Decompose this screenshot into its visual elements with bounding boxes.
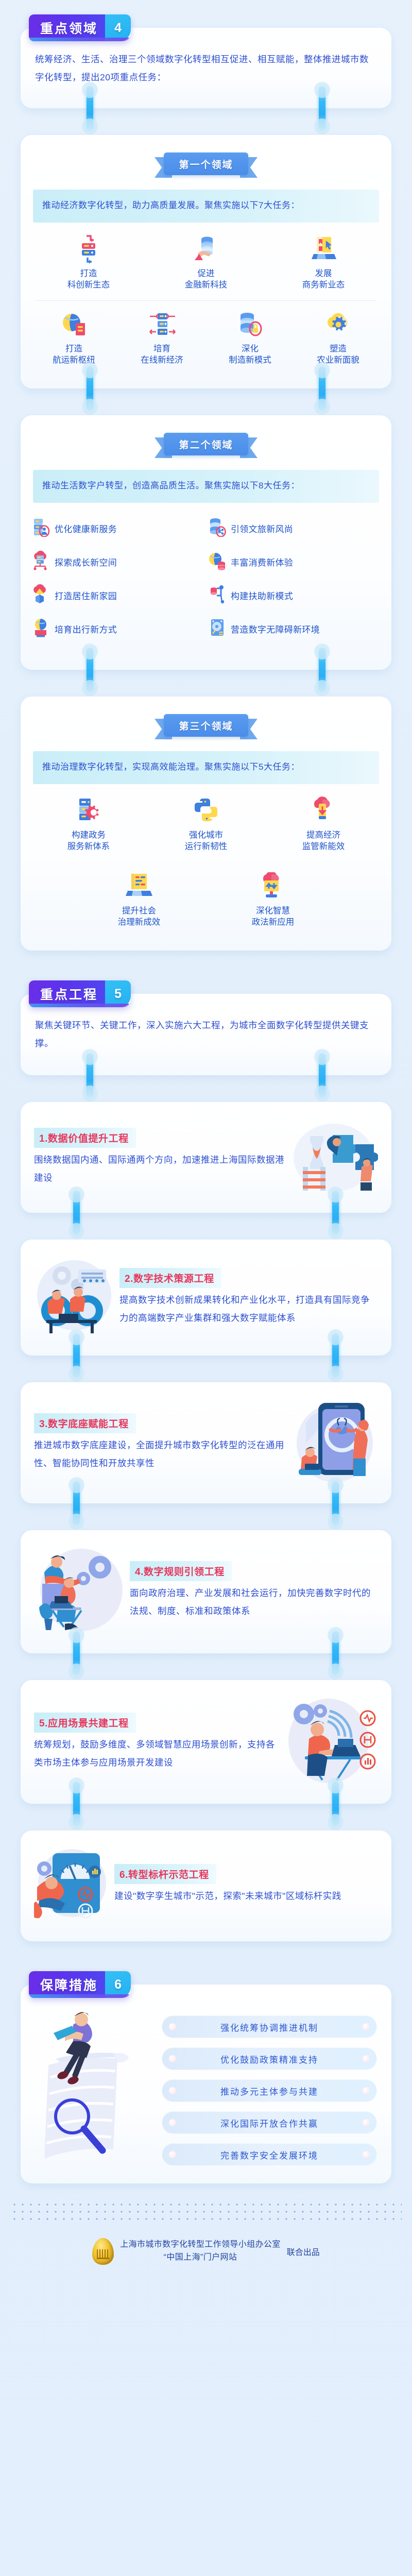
domain-1-row-1: 打造 科创新生态 促进 金融新科技 <box>21 228 391 298</box>
key-projects-tab: 重点工程 5 <box>29 980 131 1007</box>
pill-dot-left <box>169 2055 176 2062</box>
shanghai-emblem-icon <box>92 2238 114 2265</box>
domain-1-card: 第一个领域 推动经济数字化转型，助力高质量发展。聚焦实施以下7大任务： <box>21 135 391 388</box>
project-4-card: 4.数字规则引领工程 面向政府治理、产业发展和社会运行，加快完善数字时代的法规、… <box>21 1530 391 1653</box>
project-6-body: 6.转型标杆示范工程 建设"数字孪生城市"示范，探索"未来城市"区域标杆实践 <box>34 1847 378 1922</box>
project-6-desc: 建设"数字孪生城市"示范，探索"未来城市"区域标杆实践 <box>114 1887 378 1905</box>
dashboard-person-illustration <box>34 1847 111 1922</box>
domain-1-intro-text: 推动经济数字化转型，助力高质量发展。聚焦实施以下7大任务： <box>42 197 370 214</box>
laptop-cursor-icon <box>267 234 380 266</box>
key-projects-intro-text: 聚焦关键环节、关键工作，深入实施六大工程，为城市全面数字化转型提供关键支撑。 <box>35 1016 377 1053</box>
domain-2-card: 第二个领域 推动生活数字户转型，创造高品质生活。聚焦实施以下8大任务： <box>21 415 391 670</box>
tile-shehui-zhili[interactable]: 提升社会 治理新成效 <box>90 871 188 928</box>
tile-label: 深化 制造新模式 <box>208 343 292 366</box>
tile-label: 打造 航运新枢纽 <box>32 343 116 366</box>
key-projects-tab-label: 重点工程 <box>40 985 98 1003</box>
tile-jingji-jianguan[interactable]: 提高经济 监管新能效 <box>265 795 382 853</box>
project-5-title: 5.应用场景共建工程 <box>34 1713 136 1733</box>
key-areas-intro-text: 统筹经济、生活、治理三个领域数字化转型相互促进、相互赋能，整体推进城市数字化转型… <box>35 50 377 87</box>
domain-3-intro-text: 推动治理数字化转型，实现高效能治理。聚焦实施以下5大任务： <box>42 758 370 776</box>
database-lock-icon <box>208 309 292 341</box>
key-areas-tab: 重点领域 4 <box>29 14 131 41</box>
project-6-title: 6.转型标杆示范工程 <box>114 1864 216 1884</box>
project-5-body: 5.应用场景共建工程 统筹规划，鼓励多维度、多领域智慧应用场景创新，支持各类市场… <box>34 1696 378 1788</box>
node-link-icon <box>208 584 227 606</box>
project-2-title: 2.数字技术策源工程 <box>119 1268 221 1288</box>
project-4-text-col: 4.数字规则引领工程 面向政府治理、产业发展和社会运行，加快完善数字时代的法规、… <box>130 1561 378 1620</box>
list-item-label: 培育出行新方式 <box>55 622 117 635</box>
harddisk-icon <box>208 618 227 640</box>
pill-dot-right <box>363 2055 370 2062</box>
pill-dot-right <box>363 2151 370 2158</box>
measures-pill-list: 强化统筹协调推进机制 优化鼓励政策精准支持 推动多元主体参与共建 深化国际开放合… <box>162 2008 377 2166</box>
domain-3-banner: 第三个领域 <box>154 714 257 740</box>
measures-tab-number-box: 6 <box>105 1971 131 1998</box>
domain-1-row-2: 打造 航运新枢纽 培育 在线新经济 <box>21 303 391 374</box>
project-4-body: 4.数字规则引领工程 面向政府治理、产业发展和社会运行，加快完善数字时代的法规、… <box>34 1546 378 1636</box>
domain-2-banner-label: 第二个领域 <box>179 437 233 451</box>
domain-3-intro-strip: 推动治理数字化转型，实现高效能治理。聚焦实施以下5大任务： <box>33 751 379 784</box>
tile-label: 促进 金融新科技 <box>149 268 263 291</box>
scroll-magnifier-illustration <box>35 2008 157 2165</box>
key-projects-tab-left: 重点工程 <box>29 980 105 1007</box>
key-areas-tab-left: 重点领域 <box>29 14 105 41</box>
tile-zhihui-zhengfa[interactable]: 深化智慧 政法新应用 <box>224 871 322 928</box>
tile-label: 提高经济 监管新能效 <box>267 829 380 853</box>
cloud-download-icon <box>267 795 380 827</box>
domain-3-row-2: 提升社会 治理新成效 深化智慧 政法新应用 <box>21 860 391 936</box>
key-projects-tab-number: 5 <box>114 987 122 1002</box>
project-6-card: 6.转型标杆示范工程 建设"数字孪生城市"示范，探索"未来城市"区域标杆实践 <box>21 1831 391 1941</box>
measure-label: 深化国际开放合作共赢 <box>220 2116 318 2129</box>
key-areas-tab-label: 重点领域 <box>40 19 98 37</box>
pill-dot-right <box>363 2119 370 2126</box>
measure-pill[interactable]: 推动多元主体参与共建 <box>162 2079 377 2102</box>
project-1-body: 1.数据价值提升工程 围绕数据国内通、国际通两个方向，加速推进上海国际数据港建设 <box>34 1117 378 1197</box>
measure-label: 完善数字安全发展环境 <box>220 2148 318 2161</box>
python-blocks-icon <box>149 795 263 827</box>
project-3-body: 3.数字底座赋能工程 推进城市数字底座建设，全面提升城市数字化转型的泛在通用性、… <box>34 1398 378 1488</box>
key-areas-tab-number-box: 4 <box>105 14 131 41</box>
tile-zhengwu-fuwu[interactable]: 构建政务 服务新体系 <box>30 795 147 853</box>
key-projects-section: 重点工程 5 聚焦关键环节、关键工作，深入实施六大工程，为城市全面数字化转型提供… <box>0 980 412 1075</box>
tile-shangwu-yetai[interactable]: 发展 商务新业态 <box>265 234 382 291</box>
list-item[interactable]: 构建扶助新模式 <box>208 584 380 606</box>
list-item[interactable]: 探索成长新空间 <box>32 551 204 573</box>
tile-label: 强化城市 运行新韧性 <box>149 829 263 853</box>
measure-pill[interactable]: 完善数字安全发展环境 <box>162 2143 377 2166</box>
list-item-label: 构建扶助新模式 <box>231 589 293 602</box>
project-2-desc: 提高数字技术创新成果转化和产业化水平，打造具有国际竞争力的高端数字产业集群和强大… <box>119 1291 378 1327</box>
cloud-upload-icon <box>32 584 50 606</box>
pill-dot-left <box>169 2151 176 2158</box>
domain-2-items: 优化健康新服务 引领文旅新风尚 <box>21 508 391 652</box>
database-share-icon <box>208 517 227 539</box>
list-item[interactable]: 打造居住新家园 <box>32 584 204 606</box>
list-item-label: 优化健康新服务 <box>55 522 117 535</box>
project-1-text-col: 1.数据价值提升工程 围绕数据国内通、国际通两个方向，加速推进上海国际数据港建设 <box>34 1128 286 1187</box>
puzzle-hourglass-illustration <box>289 1117 378 1197</box>
cloud-sync-icon <box>226 871 320 903</box>
measure-pill[interactable]: 深化国际开放合作共赢 <box>162 2111 377 2134</box>
footer-org-names: 上海市城市数字化转型工作领导小组办公室 “中国上海”门户网站 <box>120 2239 281 2264</box>
project-1-title: 1.数据价值提升工程 <box>34 1128 136 1148</box>
measures-card: 强化统筹协调推进机制 优化鼓励政策精准支持 推动多元主体参与共建 深化国际开放合… <box>21 1985 391 2183</box>
pill-dot-left <box>169 2119 176 2126</box>
tile-zaixian-jingji[interactable]: 培育 在线新经济 <box>118 309 206 366</box>
domain-1-intro-strip: 推动经济数字化转型，助力高质量发展。聚焦实施以下7大任务： <box>33 190 379 223</box>
tile-label: 提升社会 治理新成效 <box>92 905 186 928</box>
measures-tab: 保障措施 6 <box>29 1971 131 1998</box>
domain-1-banner: 第一个领域 <box>154 152 257 178</box>
measures-section: 保障措施 6 <box>0 1971 412 2183</box>
measures-body: 强化统筹协调推进机制 优化鼓励政策精准支持 推动多元主体参与共建 深化国际开放合… <box>35 2008 377 2166</box>
pill-dot-left <box>169 2087 176 2094</box>
measure-label: 优化鼓励政策精准支持 <box>220 2053 318 2065</box>
key-projects-tab-number-box: 5 <box>105 980 131 1007</box>
measures-tab-left: 保障措施 <box>29 1971 105 1998</box>
report-laptop-icon <box>92 871 186 903</box>
domain-3-card: 第三个领域 推动治理数字化转型，实现高效能治理。聚焦实施以下5大任务： <box>21 697 391 951</box>
server-gear-icon <box>32 795 145 827</box>
footer-joint-label: 联合出品 <box>287 2245 320 2258</box>
project-4-desc: 面向政府治理、产业发展和社会运行，加快完善数字时代的法规、制度、标准和政策体系 <box>130 1584 378 1620</box>
project-6-text-col: 6.转型标杆示范工程 建设"数字孪生城市"示范，探索"未来城市"区域标杆实践 <box>114 1864 378 1905</box>
list-item-label: 引领文旅新风尚 <box>231 522 293 535</box>
tile-label: 发展 商务新业态 <box>267 268 380 291</box>
list-item[interactable]: 丰富消费新体验 <box>208 551 380 573</box>
people-laptop-gears-illustration <box>34 1546 127 1636</box>
project-5-text-col: 5.应用场景共建工程 统筹规划，鼓励多维度、多领域智慧应用场景创新，支持各类市场… <box>34 1713 282 1772</box>
domain-3-row-1: 构建政务 服务新体系 强化城市 运行新韧性 <box>21 789 391 860</box>
tile-label: 打造 科创新生态 <box>32 268 145 291</box>
measures-tab-number: 6 <box>114 1977 122 1992</box>
key-areas-tab-number: 4 <box>114 21 122 36</box>
pill-dot-left <box>169 2023 176 2030</box>
tile-hangyun-shuniu[interactable]: 打造 航运新枢纽 <box>30 309 118 366</box>
team-gears-illustration <box>34 1255 116 1340</box>
hand-database-icon <box>149 234 263 266</box>
globe-shield-icon <box>32 618 50 640</box>
list-item-label: 营造数字无障碍新环境 <box>231 622 320 635</box>
tile-label: 深化智慧 政法新应用 <box>226 905 320 928</box>
measures-tab-label: 保障措施 <box>40 1975 98 1994</box>
domain-2-banner: 第二个领域 <box>154 433 257 459</box>
wifi-desk-illustration <box>285 1696 378 1788</box>
footer: 上海市城市数字化转型工作领导小组办公室 “中国上海”门户网站 联合出品 <box>0 2221 412 2278</box>
pill-dot-right <box>363 2023 370 2030</box>
tile-label: 构建政务 服务新体系 <box>32 829 145 853</box>
ribbon-body: 第二个领域 <box>164 433 248 455</box>
globe-card-icon <box>32 309 116 341</box>
list-item-label: 丰富消费新体验 <box>231 555 293 568</box>
list-item-label: 打造居住新家园 <box>55 589 117 602</box>
tile-keji-chuangxin[interactable]: 打造 科创新生态 <box>30 234 147 291</box>
project-1-desc: 围绕数据国内通、国际通两个方向，加速推进上海国际数据港建设 <box>34 1151 286 1187</box>
globe-database-icon <box>208 551 227 573</box>
list-item[interactable]: 培育出行新方式 <box>32 618 204 640</box>
list-item-label: 探索成长新空间 <box>55 555 117 568</box>
tile-label: 培育 在线新经济 <box>120 343 204 366</box>
project-2-text-col: 2.数字技术策源工程 提高数字技术创新成果转化和产业化水平，打造具有国际竞争力的… <box>119 1268 378 1327</box>
project-3-text-col: 3.数字底座赋能工程 推进城市数字底座建设，全面提升城市数字化转型的泛在通用性、… <box>34 1413 287 1472</box>
tile-zhizao-moshi[interactable]: 深化 制造新模式 <box>206 309 294 366</box>
project-4-title: 4.数字规则引领工程 <box>130 1561 232 1581</box>
measure-pill[interactable]: 优化鼓励政策精准支持 <box>162 2047 377 2070</box>
pill-dot-right <box>363 2087 370 2094</box>
tile-nongye-mianmao[interactable]: 塑造 农业新面貌 <box>294 309 382 366</box>
measure-pill[interactable]: 强化统筹协调推进机制 <box>162 2015 377 2038</box>
key-areas-section: 重点领域 4 统筹经济、生活、治理三个领域数字化转型相互促进、相互赋能，整体推进… <box>0 14 412 108</box>
dotted-separator <box>10 2199 402 2221</box>
domain-2-intro-text: 推动生活数字户转型，创造高品质生活。聚焦实施以下8大任务： <box>42 477 370 495</box>
domain-1-banner-label: 第一个领域 <box>179 157 233 171</box>
project-5-desc: 统筹规划，鼓励多维度、多领域智慧应用场景创新，支持各类市场主体参与应用场景开发建… <box>34 1736 282 1772</box>
list-item[interactable]: 营造数字无障碍新环境 <box>208 618 380 640</box>
project-2-card: 2.数字技术策源工程 提高数字技术创新成果转化和产业化水平，打造具有国际竞争力的… <box>21 1240 391 1355</box>
domain-2-intro-strip: 推动生活数字户转型，创造高品质生活。聚焦实施以下8大任务： <box>33 470 379 503</box>
project-3-desc: 推进城市数字底座建设，全面提升城市数字化转型的泛在通用性、智能协同性和开放共享性 <box>34 1436 287 1472</box>
server-user-icon <box>32 517 50 539</box>
footer-org-line-2: “中国上海”门户网站 <box>120 2251 281 2264</box>
project-1-card: 1.数据价值提升工程 围绕数据国内通、国际通两个方向，加速推进上海国际数据港建设 <box>21 1102 391 1213</box>
cloud-network-icon <box>32 551 50 573</box>
footer-org-line-1: 上海市城市数字化转型工作领导小组办公室 <box>120 2239 281 2251</box>
list-item[interactable]: 引领文旅新风尚 <box>208 517 380 539</box>
measure-label: 强化统筹协调推进机制 <box>220 2021 318 2033</box>
project-5-card: 5.应用场景共建工程 统筹规划，鼓励多维度、多领域智慧应用场景创新，支持各类市场… <box>21 1680 391 1804</box>
domain-3-banner-label: 第三个领域 <box>179 719 233 733</box>
ribbon-body: 第一个领域 <box>164 152 248 175</box>
tile-jinrong-keji[interactable]: 促进 金融新科技 <box>147 234 265 291</box>
list-item[interactable]: 优化健康新服务 <box>32 517 204 539</box>
server-arrows-icon <box>32 234 145 266</box>
server-expand-icon <box>120 309 204 341</box>
project-3-title: 3.数字底座赋能工程 <box>34 1413 136 1433</box>
tile-chengshi-yunxing[interactable]: 强化城市 运行新韧性 <box>147 795 265 853</box>
measure-label: 推动多元主体参与共建 <box>220 2084 318 2097</box>
cloud-gear-icon <box>296 309 380 341</box>
ribbon-body: 第三个领域 <box>164 714 248 737</box>
phone-magnifier-illustration <box>290 1398 378 1488</box>
project-2-body: 2.数字技术策源工程 提高数字技术创新成果转化和产业化水平，打造具有国际竞争力的… <box>34 1255 378 1340</box>
domain-1-divider <box>36 300 376 301</box>
tile-label: 塑造 农业新面貌 <box>296 343 380 366</box>
project-3-card: 3.数字底座赋能工程 推进城市数字底座建设，全面提升城市数字化转型的泛在通用性、… <box>21 1382 391 1503</box>
